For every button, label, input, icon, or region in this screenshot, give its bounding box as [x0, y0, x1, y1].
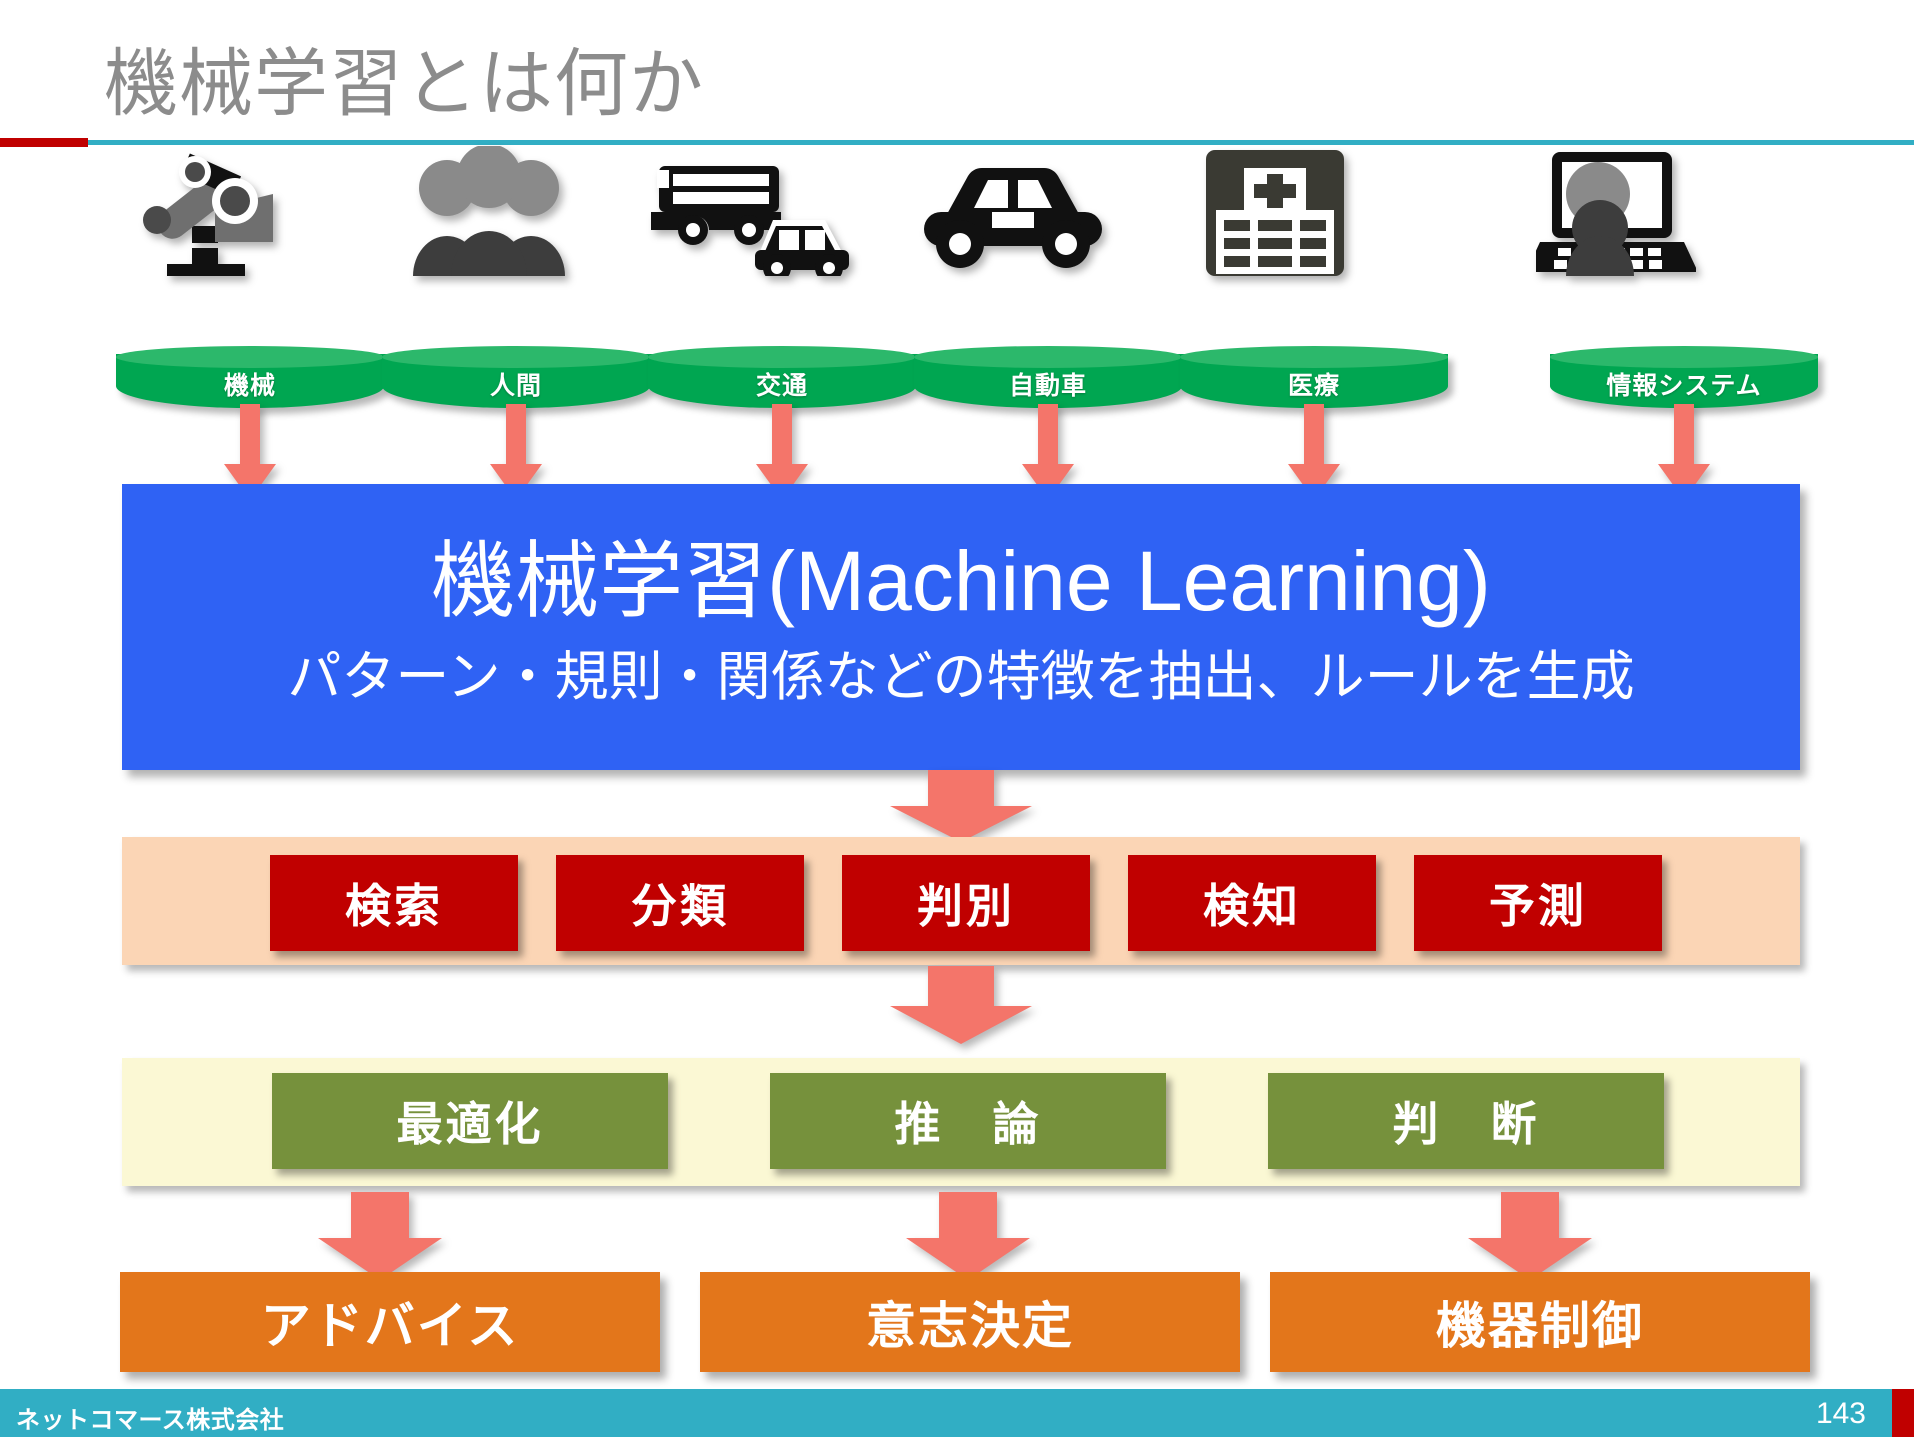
robot-arm-icon [137, 146, 317, 276]
task-label: 予測 [1489, 870, 1587, 936]
task-box-detect[interactable]: 検知 [1128, 855, 1376, 951]
source-label: 機械 [116, 360, 384, 408]
arrow-down-to-advice [318, 1192, 442, 1280]
outcome-label: アドバイス [261, 1286, 520, 1358]
task-box-classify[interactable]: 分類 [556, 855, 804, 951]
reasoning-box-inference[interactable]: 推 論 [770, 1073, 1166, 1169]
page-title: 機械学習とは何か [104, 24, 704, 131]
task-label: 分類 [631, 870, 729, 936]
reasoning-box-judgment[interactable]: 判 断 [1268, 1073, 1664, 1169]
machine-learning-box[interactable]: 機械学習(Machine Learning) パターン・規則・関係などの特徴を抽… [122, 484, 1800, 770]
source-cylinder-infosystem[interactable]: 情報システム [1550, 346, 1818, 408]
footer-company: ネットコマース株式会社 [16, 1400, 284, 1435]
machine-learning-title: 機械学習(Machine Learning) [122, 514, 1800, 635]
source-label: 人間 [382, 360, 650, 408]
people-group-icon [399, 146, 579, 276]
arrow-down-to-decision [906, 1192, 1030, 1280]
reasoning-label: 判 断 [1393, 1088, 1540, 1154]
outcome-box-decision[interactable]: 意志決定 [700, 1272, 1240, 1372]
source-cylinder-car[interactable]: 自動車 [914, 346, 1182, 408]
arrow-down-to-control [1468, 1192, 1592, 1280]
task-label: 判別 [917, 870, 1015, 936]
task-label: 検索 [345, 870, 443, 936]
outcome-label: 意志決定 [866, 1286, 1074, 1358]
source-label: 自動車 [914, 360, 1182, 408]
truck-car-icon [651, 146, 851, 276]
icon-cell-machine [96, 146, 358, 276]
task-label: 検知 [1203, 870, 1301, 936]
footer-bar [0, 1389, 1914, 1437]
outcome-box-advice[interactable]: アドバイス [120, 1272, 660, 1372]
icon-cell-medical [1144, 146, 1406, 276]
icon-cell-infosystem [1406, 146, 1826, 276]
arrow-down-ml-to-tasks [890, 770, 1032, 842]
source-label: 情報システム [1550, 360, 1818, 408]
outcome-box-control[interactable]: 機器制御 [1270, 1272, 1810, 1372]
task-box-discriminate[interactable]: 判別 [842, 855, 1090, 951]
source-cylinder-traffic[interactable]: 交通 [648, 346, 916, 408]
reasoning-label: 推 論 [895, 1088, 1042, 1154]
car-icon [918, 146, 1108, 276]
icon-cell-human [358, 146, 620, 276]
title-rule-red [0, 138, 88, 147]
arrow-down-tasks-to-reasoning [890, 966, 1032, 1044]
source-label: 医療 [1180, 360, 1448, 408]
icon-cell-car [882, 146, 1144, 276]
task-box-predict[interactable]: 予測 [1414, 855, 1662, 951]
laptop-person-icon [1536, 146, 1696, 276]
task-box-search[interactable]: 検索 [270, 855, 518, 951]
footer-red-accent [1892, 1389, 1914, 1437]
machine-learning-subtitle: パターン・規則・関係などの特徴を抽出、ルールを生成 [122, 632, 1800, 711]
title-bar: 機械学習とは何か [0, 0, 1914, 150]
source-cylinder-human[interactable]: 人間 [382, 346, 650, 408]
reasoning-box-optimization[interactable]: 最適化 [272, 1073, 668, 1169]
icon-cell-traffic [620, 146, 882, 276]
reasoning-label: 最適化 [397, 1088, 544, 1154]
footer-page-number: 143 [1816, 1397, 1866, 1431]
source-cylinder-machine[interactable]: 機械 [116, 346, 384, 408]
outcome-label: 機器制御 [1436, 1286, 1644, 1358]
title-rule-teal [0, 140, 1914, 145]
hospital-icon [1200, 146, 1350, 276]
source-label: 交通 [648, 360, 916, 408]
source-cylinder-medical[interactable]: 医療 [1180, 346, 1448, 408]
